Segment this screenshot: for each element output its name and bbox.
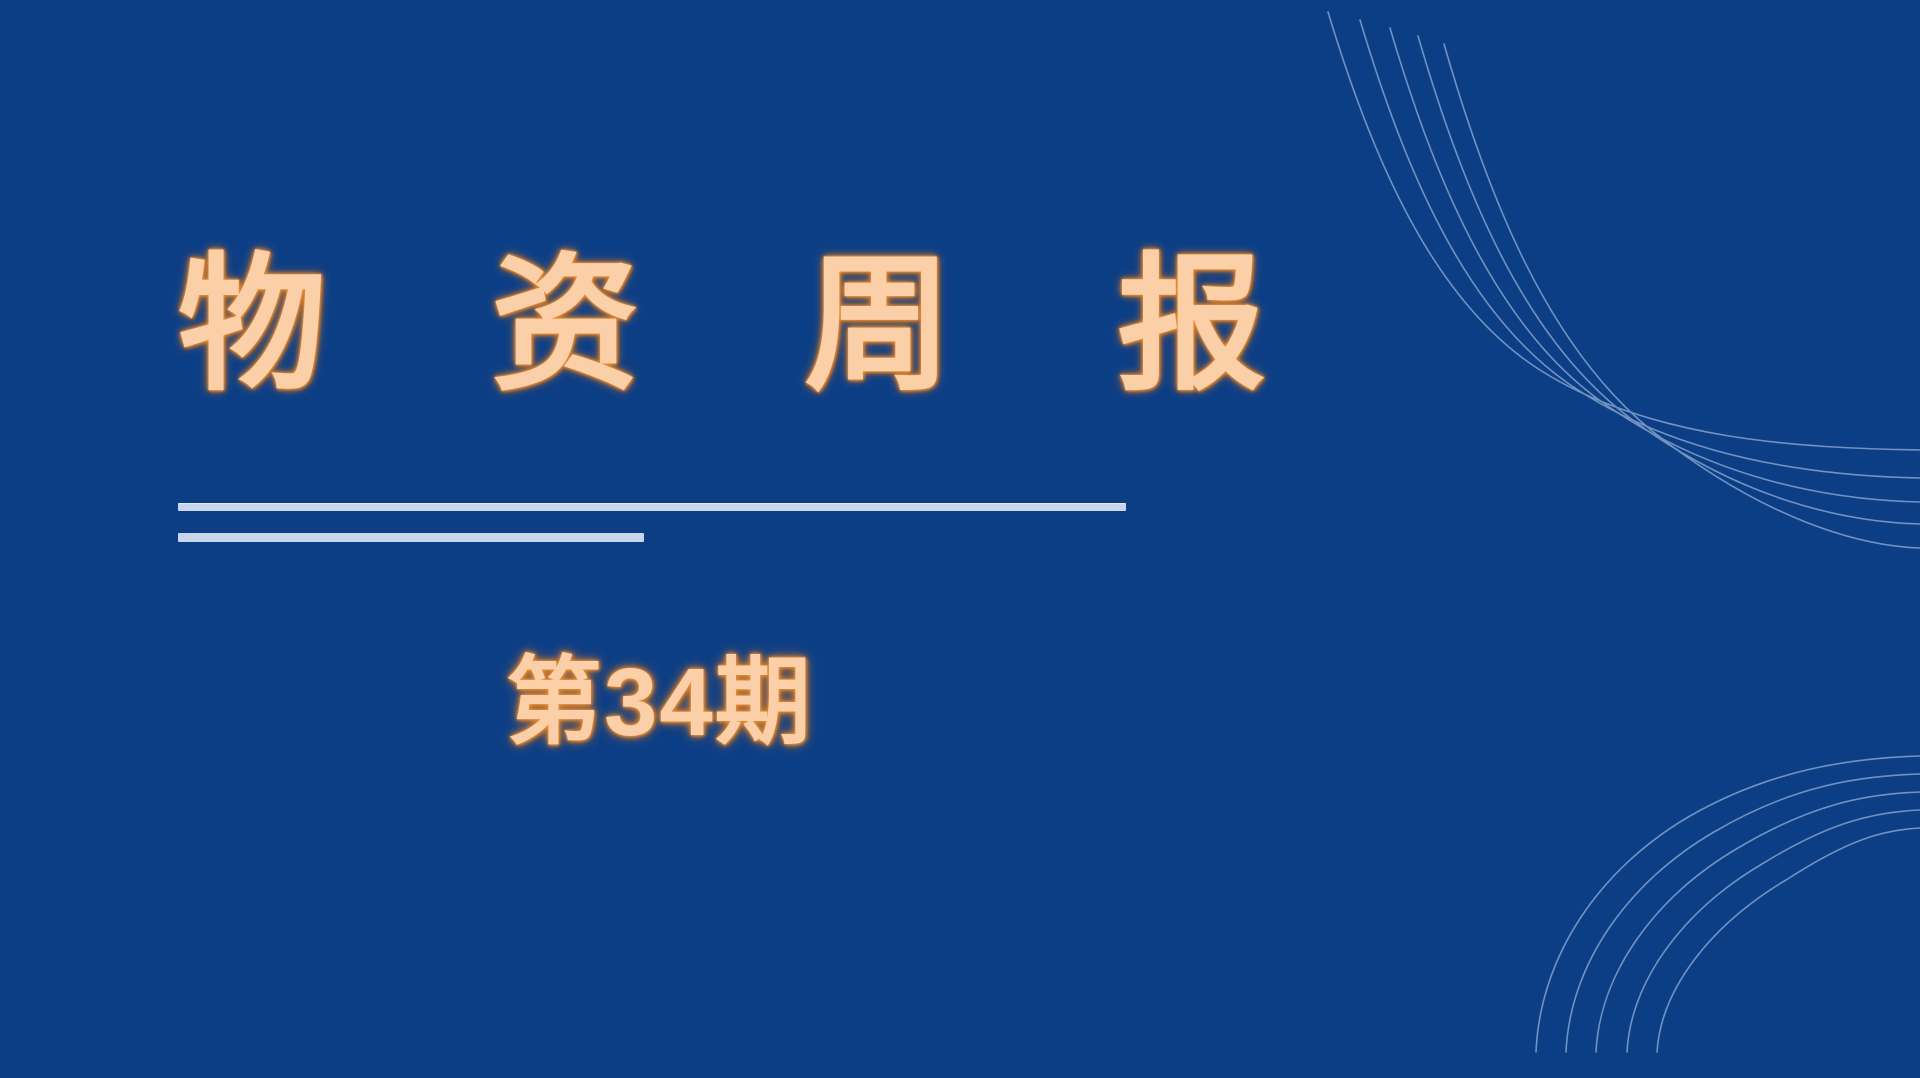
page-title: 物 资 周 报 bbox=[178, 252, 1178, 400]
top-right-swoosh-decoration bbox=[1280, 0, 1920, 580]
title-block: 物 资 周 报 bbox=[178, 252, 1178, 400]
title-slide: 物 资 周 报 第34期 bbox=[0, 0, 1920, 1078]
issue-subtitle: 第34期 bbox=[506, 648, 813, 758]
bottom-right-arc-decoration bbox=[1500, 718, 1920, 1078]
title-underline-secondary bbox=[178, 533, 644, 542]
title-underline-group bbox=[178, 503, 1126, 542]
title-underline-primary bbox=[178, 503, 1126, 511]
